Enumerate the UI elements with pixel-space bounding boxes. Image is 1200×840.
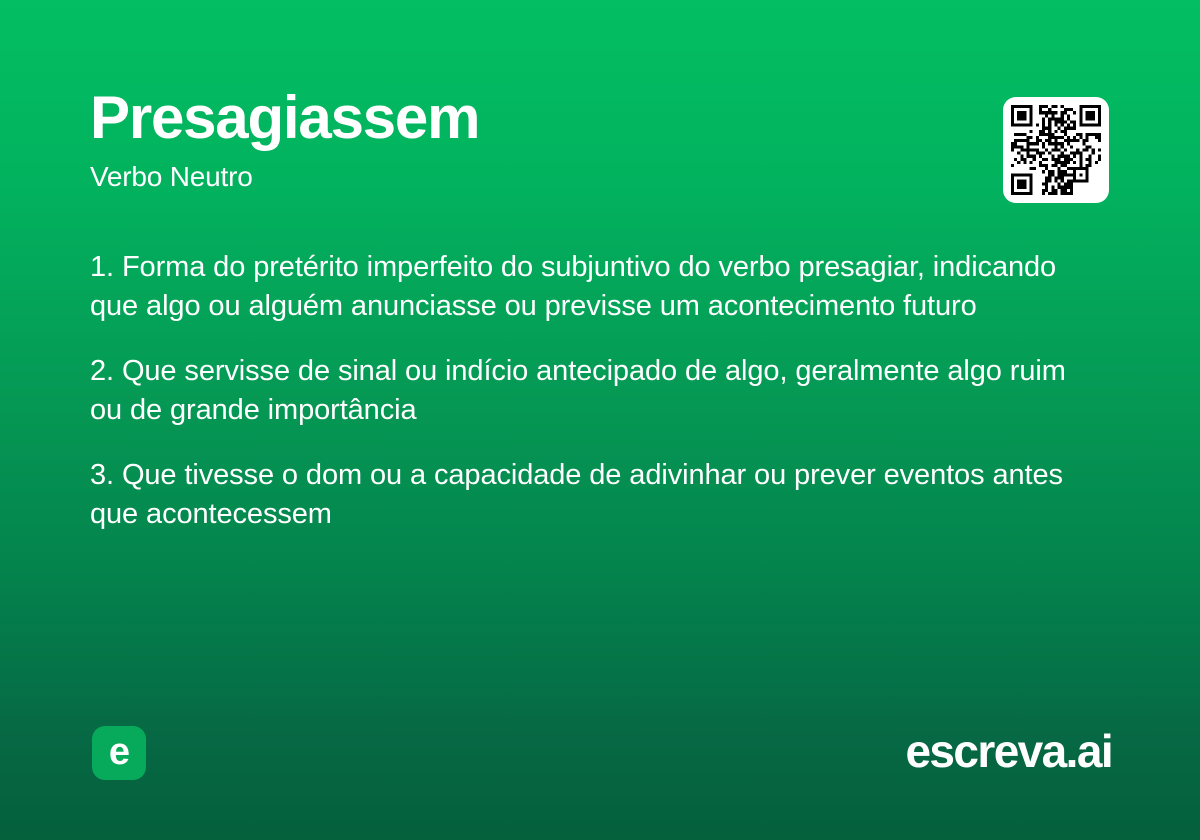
- dictionary-card: Presagiassem Verbo Neutro 1. Forma do pr…: [0, 0, 1200, 840]
- brand-name: escreva.ai: [905, 724, 1112, 779]
- brand-logo-mark: e: [92, 726, 146, 780]
- definition-item: 3. Que tivesse o dom ou a capacidade de …: [90, 456, 1105, 533]
- definition-item: 1. Forma do pretérito imperfeito do subj…: [90, 248, 1105, 325]
- card-header: Presagiassem Verbo Neutro: [90, 86, 960, 193]
- page-title: Presagiassem: [90, 86, 960, 150]
- word-class-label: Verbo Neutro: [90, 160, 960, 194]
- qr-code-card[interactable]: [1003, 97, 1109, 203]
- logo-letter: e: [109, 733, 129, 771]
- definition-item: 2. Que servisse de sinal ou indício ante…: [90, 352, 1105, 429]
- definition-list: 1. Forma do pretérito imperfeito do subj…: [90, 248, 1105, 533]
- qr-code-icon: [1011, 105, 1101, 195]
